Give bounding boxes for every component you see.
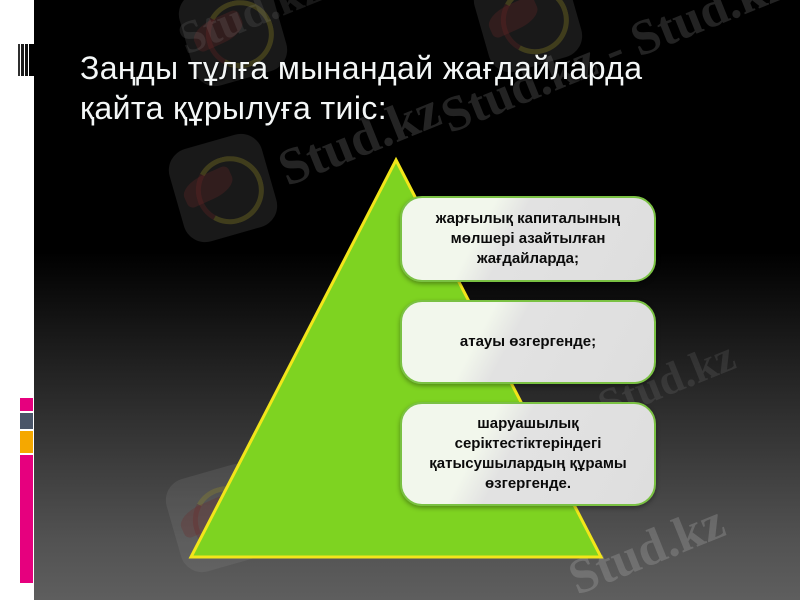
color-chip-amber [20,431,33,453]
color-chip-magenta-bar [20,455,33,583]
callout-box-2-text: атауы өзгергенде; [414,332,642,352]
color-chip-slate [20,413,33,429]
slide-canvas: Stud.kz Stud.kz - Stud.kz Stud.kz Stud.k… [0,0,800,600]
callout-box-2[interactable]: атауы өзгергенде; [400,300,656,384]
callout-box-1[interactable]: жарғылық капиталының мөлшері азайтылған … [400,196,656,282]
callout-box-3-text: шаруашылық серіктестіктеріндегі қатысушы… [414,414,642,494]
slide-title-line-2: қайта құрылуға тиіс: [80,88,770,128]
slide-title: Заңды тұлға мынандай жағдайларда қайта қ… [80,48,770,128]
callout-box-1-text: жарғылық капиталының мөлшері азайтылған … [414,209,642,269]
barcode-stripes-decoration [18,44,34,76]
callout-box-3[interactable]: шаруашылық серіктестіктеріндегі қатысушы… [400,402,656,506]
slide-title-line-1: Заңды тұлға мынандай жағдайларда [80,48,770,88]
color-chip-pink [20,398,33,411]
